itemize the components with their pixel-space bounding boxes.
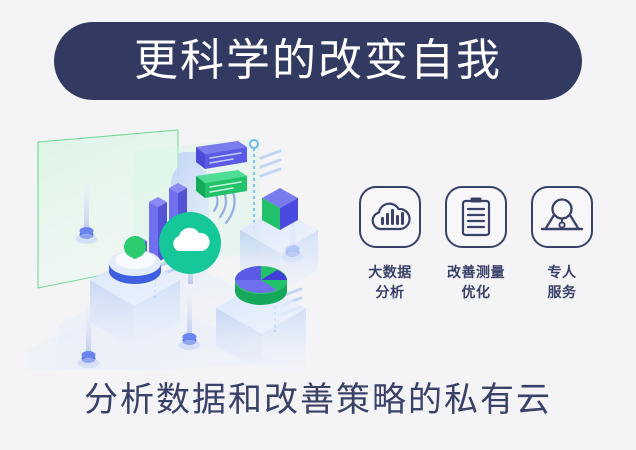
feature-list: 大数据 分析 改善测量 优化 [352,186,600,336]
feature-label-big-data: 大数据 分析 [368,262,412,302]
pie-chart-3d [235,266,287,305]
header-pill: 更科学的改变自我 [54,22,582,100]
poster-root: 更科学的改变自我 [0,0,636,450]
feature-item-support[interactable]: 专人 服务 [524,186,600,302]
clipboard-lines-icon [459,196,493,238]
feature-item-big-data[interactable]: 大数据 分析 [352,186,428,302]
cloud-bar-chart-icon [369,199,411,235]
footer-tagline: 分析数据和改善策略的私有云 [0,382,636,419]
clipboard-lines-icon-box [445,186,507,248]
cloud-bar-chart-icon-box [359,186,421,248]
support-agent-icon [540,197,584,237]
feature-label-measurement: 改善测量 优化 [447,262,505,302]
feature-label-support: 专人 服务 [548,262,577,302]
hero-illustration [28,120,358,370]
page-title: 更科学的改变自我 [134,39,502,83]
feature-item-measurement[interactable]: 改善测量 优化 [438,186,514,302]
support-agent-icon-box [531,186,593,248]
